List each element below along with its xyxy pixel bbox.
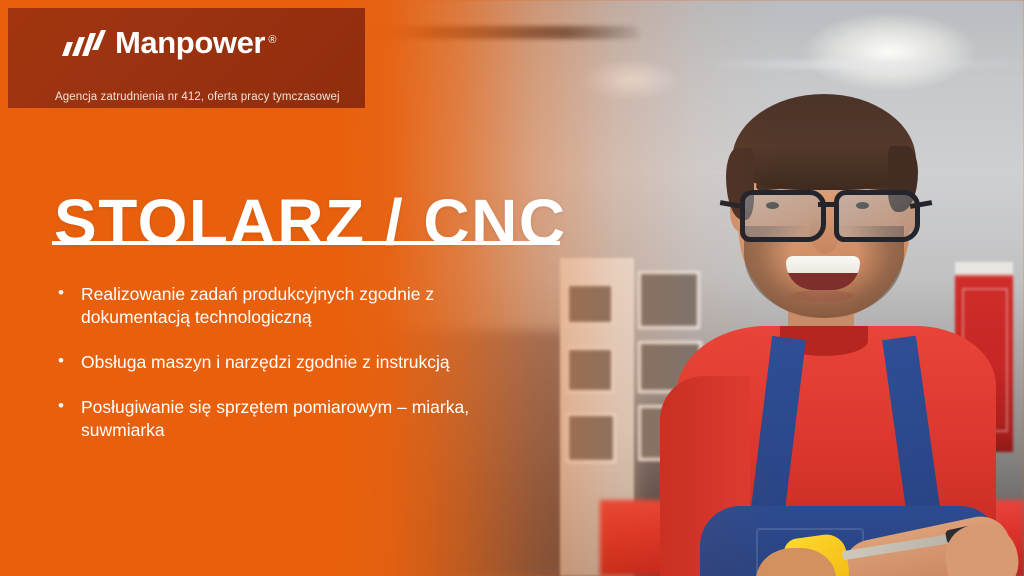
brand-banner: Manpower® Agencja zatrudnienia nr 412, o… [8, 8, 365, 108]
registered-trademark-icon: ® [268, 27, 276, 53]
manpower-logo[interactable]: Manpower® [62, 30, 265, 56]
list-item: Posługiwanie się sprzętem pomiarowym – m… [52, 396, 522, 442]
title-divider [52, 241, 560, 245]
list-item: Obsługa maszyn i narzędzi zgodnie z inst… [52, 351, 522, 374]
contact-footer: ŁÓDŹ - BAŁUTY kontakt@manpower.pl 608-48… [0, 466, 1024, 576]
logo-word-text: Manpower [115, 25, 265, 60]
agency-note: Agencja zatrudnienia nr 412, oferta prac… [55, 91, 340, 103]
manpower-wordmark: Manpower® [115, 30, 265, 56]
list-item: Realizowanie zadań produkcyjnych zgodnie… [52, 283, 522, 329]
manpower-bars-icon [62, 30, 106, 56]
responsibilities-list: Realizowanie zadań produkcyjnych zgodnie… [52, 283, 522, 464]
job-advert-poster: Manpower® Agencja zatrudnienia nr 412, o… [0, 0, 1024, 576]
